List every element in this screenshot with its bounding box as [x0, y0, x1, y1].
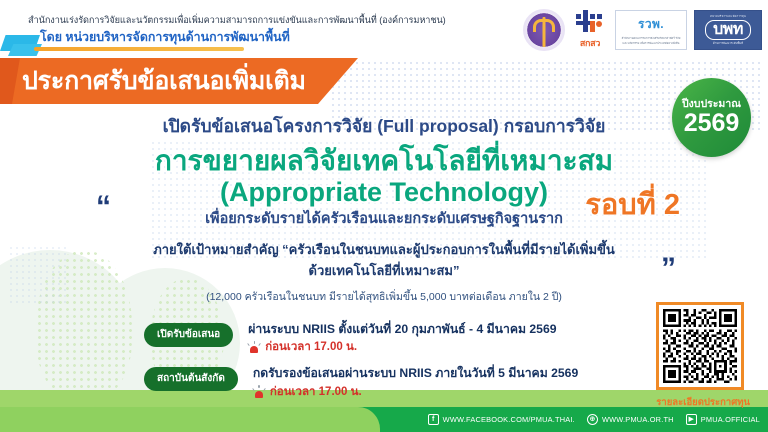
schedule-deadline-note: ก่อนเวลา 17.00 น. [248, 338, 556, 356]
goal-note: (12,000 ครัวเรือนในชนบท มีรายได้สุทธิเพิ… [0, 288, 768, 305]
purpose-line: เพื่อยกระดับรายได้ครัวเรือนและยกระดับเศร… [0, 207, 768, 230]
ruwapo-logo: รวพ. สำนักงานคณะกรรมการส่งเสริมวิทยาศาสต… [615, 10, 687, 50]
royal-seal-logo [523, 9, 565, 51]
schedule-row: สถาบันต้นสังกัด กดรับรองข้อเสนอผ่านระบบ … [0, 366, 768, 400]
organization-fullname: สำนักงานเร่งรัดการวิจัยและนวัตกรรมเพื่อเ… [28, 13, 446, 28]
tsri-logo: สกสว [572, 9, 608, 51]
fiscal-year-badge: ปีงบประมาณ 2569 [672, 78, 751, 157]
ruwapo-logo-label: รวพ. [638, 15, 664, 34]
tsri-mark-icon [574, 10, 606, 36]
goal-line-2: ด้วยเทคโนโลยีที่เหมาะสม” [0, 260, 768, 281]
schedule-row-texts: กดรับรองข้อเสนอผ่านระบบ NRIIS ภายในวันที… [253, 366, 578, 400]
footer-link-website[interactable]: ⊕ WWW.PMUA.OR.TH [587, 414, 674, 425]
purpose-line-text: เพื่อยกระดับรายได้ครัวเรือนและยกระดับเศร… [205, 211, 563, 227]
header-underline-bar [34, 47, 244, 51]
goal-line-1: ภายใต้เป้าหมายสำคัญ “ครัวเรือนในชนบทและผ… [0, 239, 768, 260]
announcement-poster: สำนักงานเร่งรัดการวิจัยและนวัตกรรมเพื่อเ… [0, 0, 768, 432]
schedule-main-text: กดรับรองข้อเสนอผ่านระบบ NRIIS ภายในวันที… [253, 366, 578, 381]
qr-code-image[interactable] [656, 302, 744, 390]
organization-byline: โดย หน่วยบริหารจัดการทุนด้านการพัฒนาพื้น… [40, 28, 290, 47]
siren-icon [248, 341, 261, 353]
schedule-deadline-note: ก่อนเวลา 17.00 น. [253, 383, 578, 401]
youtube-icon: ▶ [686, 414, 697, 425]
schedule-main-text: ผ่านระบบ NRIIS ตั้งแต่วันที่ 20 กุมภาพัน… [248, 322, 556, 337]
globe-icon: ⊕ [587, 414, 598, 425]
bpt-logo-subtitle: ด้านการพัฒนาระดับพื้นที่ [713, 41, 743, 46]
quote-close-mark: ” [661, 254, 676, 284]
round-badge: รอบที่ 2 [585, 181, 680, 227]
footer-link-facebook[interactable]: f WWW.FACEBOOK.COM/PMUA.THAI. [428, 414, 575, 425]
footer-link-youtube[interactable]: ▶ PMUA.OFFICIAL [686, 414, 760, 425]
bpt-logo-label: บพท [705, 20, 751, 40]
ruwapo-logo-subtitle: สำนักงานคณะกรรมการส่งเสริมวิทยาศาสตร์ วิ… [620, 36, 682, 44]
siren-icon [253, 386, 266, 398]
fiscal-year-value: 2569 [684, 110, 740, 136]
schedule-deadline-text: ก่อนเวลา 17.00 น. [265, 338, 357, 356]
qr-code-caption: รายละเอียดประกาศทุน [656, 395, 750, 410]
announcement-banner: ประกาศรับข้อเสนอเพิ่มเติม [0, 58, 358, 104]
schedule-row: เปิดรับข้อเสนอ ผ่านระบบ NRIIS ตั้งแต่วัน… [0, 322, 768, 356]
fiscal-year-label: ปีงบประมาณ [682, 99, 741, 110]
facebook-icon: f [428, 414, 439, 425]
footer-links: f WWW.FACEBOOK.COM/PMUA.THAI. ⊕ WWW.PMUA… [428, 407, 760, 432]
schedule-section: เปิดรับข้อเสนอ ผ่านระบบ NRIIS ตั้งแต่วัน… [0, 322, 768, 411]
main-content: เปิดรับข้อเสนอโครงการวิจัย (Full proposa… [0, 104, 768, 305]
call-for-proposal-line: เปิดรับข้อเสนอโครงการวิจัย (Full proposa… [0, 112, 768, 140]
logo-strip: สกสว รวพ. สำนักงานคณะกรรมการส่งเสริมวิทย… [523, 7, 762, 53]
footer-link-website-label: WWW.PMUA.OR.TH [602, 415, 674, 424]
footer-link-facebook-label: WWW.FACEBOOK.COM/PMUA.THAI. [443, 415, 575, 424]
bpt-logo: หน่วยบริหารและจัดการทุน บพท ด้านการพัฒนา… [694, 10, 762, 50]
poster-header: สำนักงานเร่งรัดการวิจัยและนวัตกรรมเพื่อเ… [0, 0, 768, 58]
schedule-row-texts: ผ่านระบบ NRIIS ตั้งแต่วันที่ 20 กุมภาพัน… [248, 322, 556, 356]
announcement-banner-text: ประกาศรับข้อเสนอเพิ่มเติม [22, 61, 306, 101]
schedule-pill-affiliated-institute: สถาบันต้นสังกัด [144, 367, 238, 391]
tsri-logo-label: สกสว [572, 36, 608, 50]
bpt-logo-top-text: หน่วยบริหารและจัดการทุน [710, 14, 746, 19]
research-topic-thai: การขยายผลวิจัยเทคโนโลยีที่เหมาะสม [0, 144, 768, 177]
footer-link-youtube-label: PMUA.OFFICIAL [701, 415, 760, 424]
schedule-deadline-text: ก่อนเวลา 17.00 น. [270, 383, 362, 401]
schedule-pill-open-submission: เปิดรับข้อเสนอ [144, 323, 233, 347]
qr-code-block[interactable]: รายละเอียดประกาศทุน [656, 302, 750, 410]
footer-curve-decor [0, 407, 380, 432]
